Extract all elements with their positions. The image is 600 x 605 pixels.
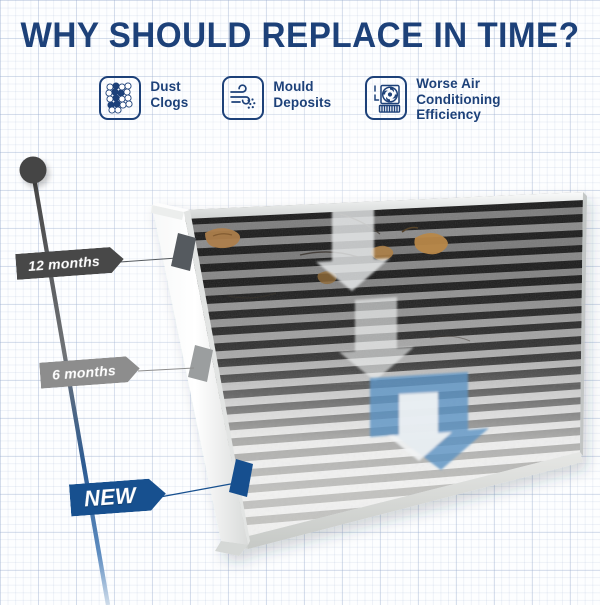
feature-label: Mould Deposits <box>273 76 331 110</box>
feature-air-conditioning: Worse Air Conditioning Efficiency <box>365 76 500 123</box>
feature-label: Worse Air Conditioning Efficiency <box>416 76 500 123</box>
page-title: WHY SHOULD REPLACE IN TIME? <box>15 14 585 58</box>
feature-list: Dust Clogs Mould Deposits <box>0 76 600 123</box>
dust-clogs-icon <box>99 76 141 120</box>
feature-label: Dust Clogs <box>150 76 188 110</box>
mould-deposits-icon <box>222 76 264 120</box>
air-conditioning-fan-icon <box>365 76 407 120</box>
feature-dust-clogs: Dust Clogs <box>99 76 188 120</box>
feature-mould-deposits: Mould Deposits <box>222 76 331 120</box>
